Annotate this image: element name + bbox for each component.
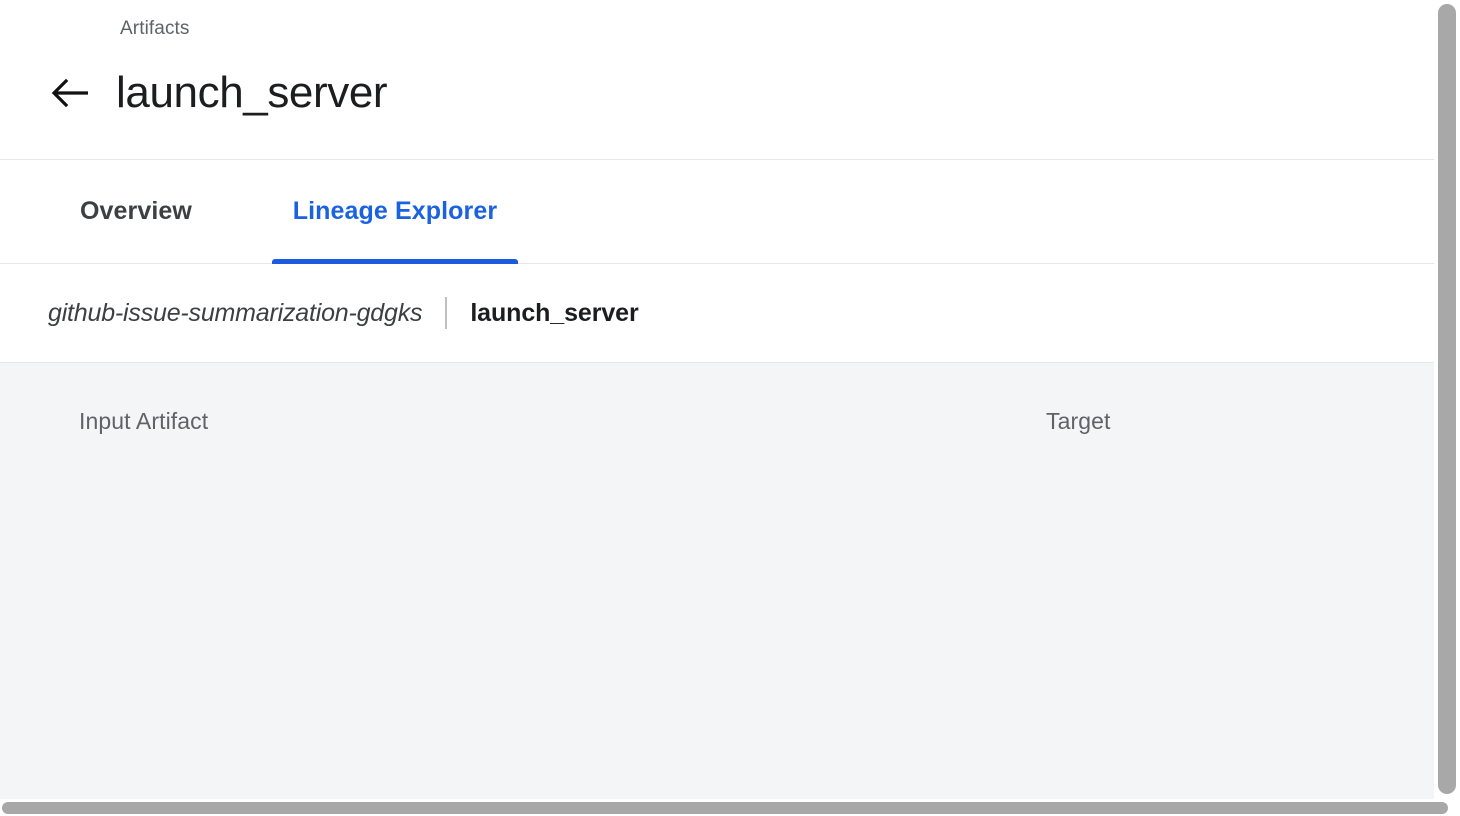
page-title: launch_server xyxy=(116,71,387,115)
column-label-input-artifact: Input Artifact xyxy=(79,408,208,435)
vertical-scrollbar[interactable] xyxy=(1434,0,1460,800)
breadcrumb-current-artifact: launch_server xyxy=(470,299,638,328)
lineage-breadcrumb: github-issue-summarization-gdgks launch_… xyxy=(0,264,1434,363)
back-arrow-icon[interactable] xyxy=(48,70,94,116)
breadcrumb-project[interactable]: github-issue-summarization-gdgks xyxy=(48,299,422,328)
vertical-scrollbar-thumb[interactable] xyxy=(1438,4,1456,794)
horizontal-scrollbar-thumb[interactable] xyxy=(2,802,1448,814)
column-label-target: Target xyxy=(1046,408,1111,435)
breadcrumb-separator xyxy=(445,297,447,329)
tab-bar: Overview Lineage Explorer xyxy=(0,160,1434,264)
title-row: launch_server xyxy=(48,70,387,116)
tab-lineage-explorer[interactable]: Lineage Explorer xyxy=(272,159,518,263)
artifact-lineage-page: Artifacts launch_server Overview Lineage… xyxy=(0,0,1460,816)
horizontal-scrollbar[interactable] xyxy=(0,800,1460,816)
lineage-canvas[interactable]: Input Artifact Target COMPONENTS.TRAIN T… xyxy=(0,363,1434,799)
breadcrumb-artifacts[interactable]: Artifacts xyxy=(120,18,190,40)
page-content: Artifacts launch_server Overview Lineage… xyxy=(0,0,1434,800)
page-header: Artifacts launch_server xyxy=(0,0,1434,160)
tab-overview[interactable]: Overview xyxy=(48,159,224,263)
